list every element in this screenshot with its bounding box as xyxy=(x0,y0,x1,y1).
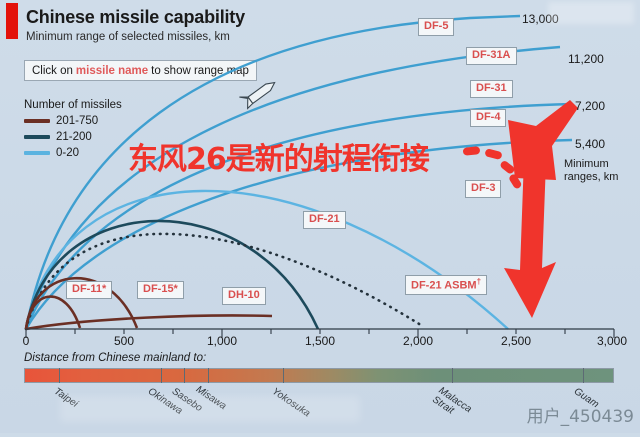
city-tick-sasebo xyxy=(184,368,185,383)
label-dh-10[interactable]: DH-10 xyxy=(222,287,266,305)
xtick-2000: 2,000 xyxy=(403,334,433,348)
label-df-3[interactable]: DF-3 xyxy=(465,180,501,198)
label-df-21-asbm[interactable]: DF-21 ASBM† xyxy=(405,275,487,295)
label-df-11[interactable]: DF-11* xyxy=(66,281,112,299)
label-df-21[interactable]: DF-21 xyxy=(303,211,346,229)
xtick-3000: 3,000 xyxy=(597,334,627,348)
label-df-31a[interactable]: DF-31A xyxy=(466,47,517,65)
range-value-7200: 7,200 xyxy=(575,99,605,113)
xtick-2500: 2,500 xyxy=(501,334,531,348)
range-value-11200: 11,200 xyxy=(568,52,604,66)
city-tick-yokosuka xyxy=(283,368,284,383)
label-df-4[interactable]: DF-4 xyxy=(470,109,506,127)
xtick-1500: 1,500 xyxy=(305,334,335,348)
city-tick-guam xyxy=(583,368,584,383)
label-df-21-asbm-text: DF-21 ASBM xyxy=(411,280,477,292)
distance-color-bar xyxy=(24,368,614,383)
city-tick-malacca xyxy=(452,368,453,383)
xtick-500: 500 xyxy=(114,334,134,348)
watermark-blur-top xyxy=(548,2,634,24)
range-caption: Minimum ranges, km xyxy=(564,158,618,183)
range-value-5400: 5,400 xyxy=(575,137,605,151)
watermark-blur-bottom xyxy=(60,396,360,422)
xtick-0: 0 xyxy=(23,334,30,348)
label-df-31[interactable]: DF-31 xyxy=(470,80,513,98)
distance-strip-title: Distance from Chinese mainland to: xyxy=(24,352,206,364)
label-df-21-asbm-dagger: † xyxy=(477,277,481,286)
city-tick-taipei xyxy=(59,368,60,383)
range-caption-line2: ranges, km xyxy=(564,171,618,184)
arc-df-21 xyxy=(26,221,318,329)
city-tick-misawa xyxy=(208,368,209,383)
label-df-15[interactable]: DF-15* xyxy=(137,281,184,299)
infographic-root: Chinese missile capability Minimum range… xyxy=(0,0,640,433)
xtick-1000: 1,000 xyxy=(207,334,237,348)
label-df-5[interactable]: DF-5 xyxy=(418,18,454,36)
city-tick-okinawa xyxy=(161,368,162,383)
chinese-annotation-text: 东风26是新的射程衔接 xyxy=(128,134,429,178)
arc-dh-10 xyxy=(26,316,272,329)
watermark-user: 用户_450439 xyxy=(527,402,634,427)
range-caption-line1: Minimum xyxy=(564,158,618,171)
